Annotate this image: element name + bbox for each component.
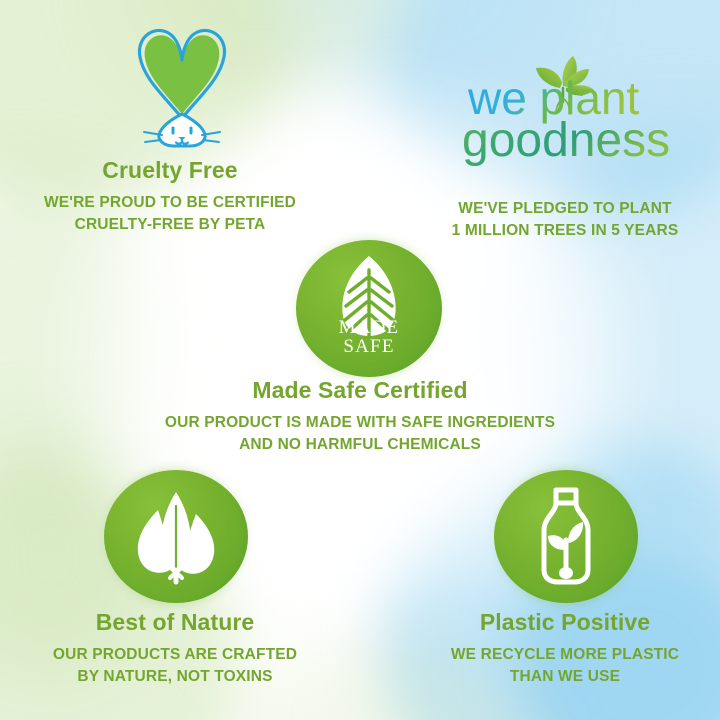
best-of-nature-description: OUR PRODUCTS ARE CRAFTED BY NATURE, NOT … xyxy=(15,644,335,688)
best-of-nature-heading: Best of Nature xyxy=(15,610,335,635)
made-safe-badge: MADE SAFE xyxy=(296,240,442,377)
made-safe-heading: Made Safe Certified xyxy=(110,378,610,403)
made-safe-word-safe: SAFE xyxy=(296,337,442,356)
wpg-line-2: goodness xyxy=(462,114,670,167)
made-safe-line-2: AND NO HARMFUL CHEMICALS xyxy=(110,434,610,456)
we-plant-goodness-line-2: 1 MILLION TREES IN 5 YEARS xyxy=(400,220,720,242)
made-safe-description: OUR PRODUCT IS MADE WITH SAFE INGREDIENT… xyxy=(110,412,610,456)
plastic-positive-section: Plastic Positive WE RECYCLE MORE PLASTIC… xyxy=(405,610,720,688)
cruelty-free-line-2: CRUELTY-FREE BY PETA xyxy=(10,214,330,236)
best-of-nature-badge xyxy=(104,470,248,603)
infographic-canvas: Cruelty Free WE'RE PROUD TO BE CERTIFIED… xyxy=(0,0,720,720)
plastic-positive-line-2: THAN WE USE xyxy=(405,666,720,688)
made-safe-line-1: OUR PRODUCT IS MADE WITH SAFE INGREDIENT… xyxy=(110,412,610,434)
made-safe-section: Made Safe Certified OUR PRODUCT IS MADE … xyxy=(110,378,610,456)
best-of-nature-line-1: OUR PRODUCTS ARE CRAFTED xyxy=(15,644,335,666)
cruelty-free-heading: Cruelty Free xyxy=(10,158,330,183)
cruelty-free-line-1: WE'RE PROUD TO BE CERTIFIED xyxy=(10,192,330,214)
made-safe-wordmark: MADE SAFE xyxy=(296,318,442,357)
plastic-positive-description: WE RECYCLE MORE PLASTIC THAN WE USE xyxy=(405,644,720,688)
we-plant-goodness-description: WE'VE PLEDGED TO PLANT 1 MILLION TREES I… xyxy=(400,198,720,242)
plastic-positive-heading: Plastic Positive xyxy=(405,610,720,635)
three-leaves-icon xyxy=(104,470,248,603)
best-of-nature-line-2: BY NATURE, NOT TOXINS xyxy=(15,666,335,688)
plastic-positive-line-1: WE RECYCLE MORE PLASTIC xyxy=(405,644,720,666)
best-of-nature-section: Best of Nature OUR PRODUCTS ARE CRAFTED … xyxy=(15,610,335,688)
peta-bunny-heart-icon xyxy=(118,22,246,148)
plastic-positive-badge xyxy=(494,470,638,603)
made-safe-word-made: MADE xyxy=(296,318,442,337)
cruelty-free-section: Cruelty Free WE'RE PROUD TO BE CERTIFIED… xyxy=(10,158,330,236)
we-plant-goodness-section: WE'VE PLEDGED TO PLANT 1 MILLION TREES I… xyxy=(400,198,720,242)
cruelty-free-description: WE'RE PROUD TO BE CERTIFIED CRUELTY-FREE… xyxy=(10,192,330,236)
bottle-sprout-icon xyxy=(494,470,638,603)
we-plant-goodness-line-1: WE'VE PLEDGED TO PLANT xyxy=(400,198,720,220)
we-plant-goodness-logo: we plant goodness xyxy=(460,52,680,174)
